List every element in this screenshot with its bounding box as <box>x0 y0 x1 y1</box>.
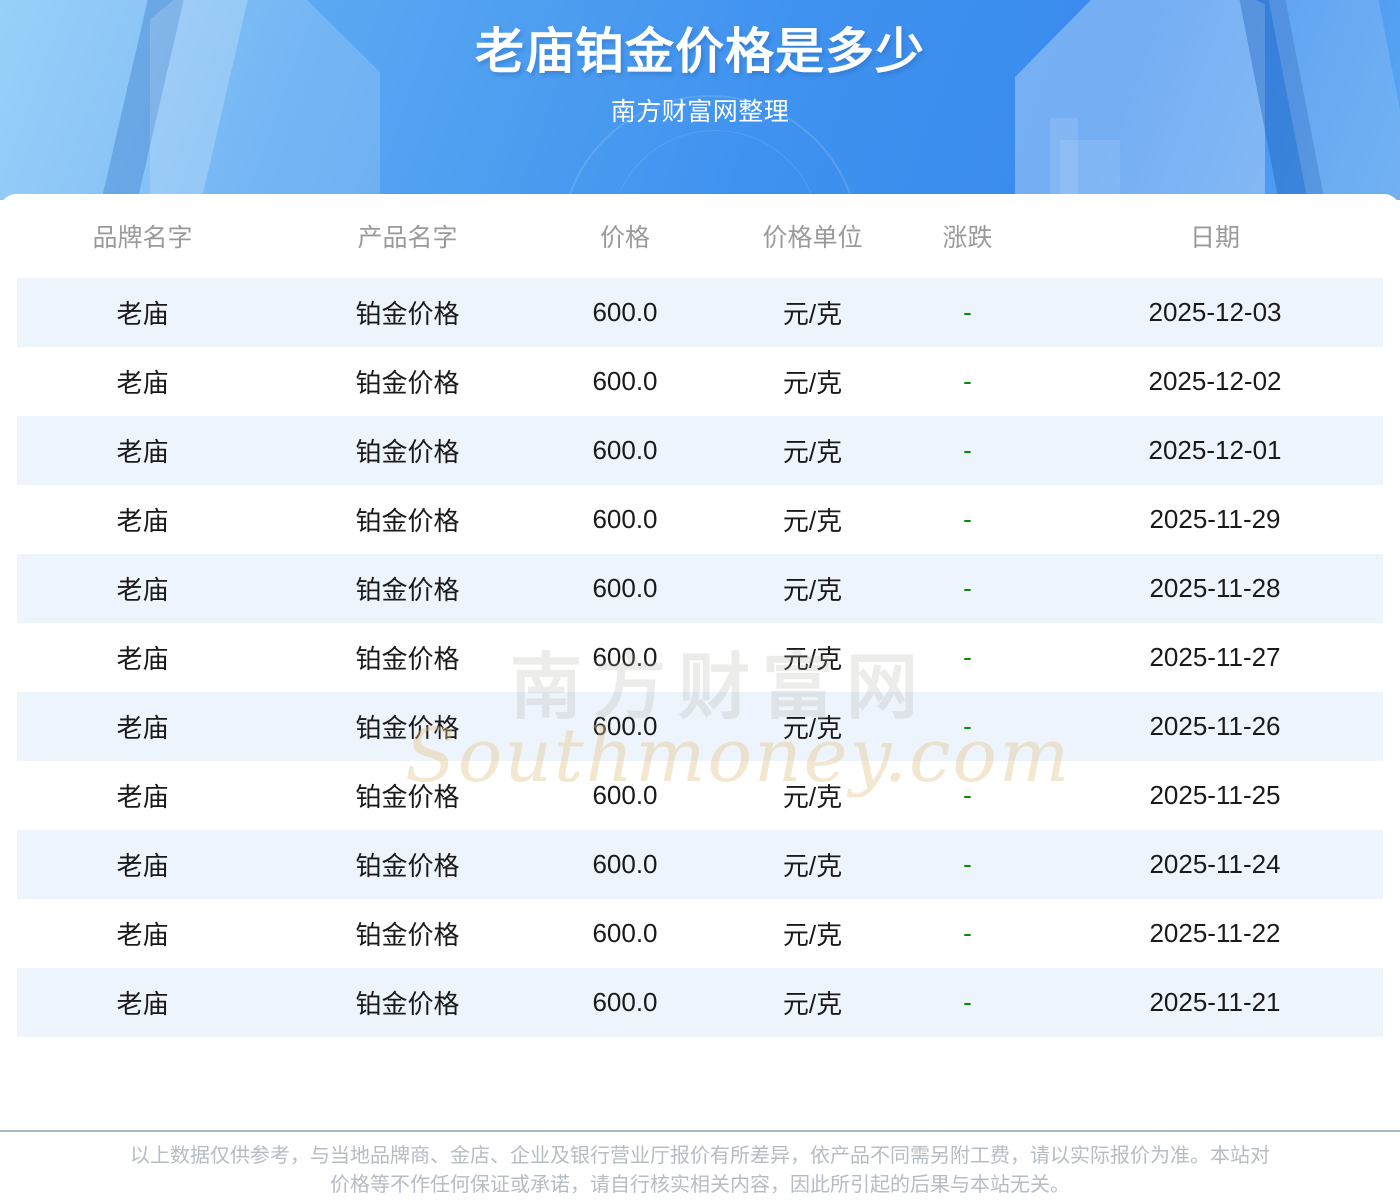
cell-brand: 老庙 <box>0 485 285 554</box>
cell-change: - <box>905 554 1030 623</box>
page-title: 老庙铂金价格是多少 <box>0 0 1400 83</box>
cell-unit: 元/克 <box>720 623 905 692</box>
change-indicator: - <box>963 504 972 534</box>
cell-price: 600.0 <box>530 416 720 485</box>
change-indicator: - <box>963 366 972 396</box>
table-body: 老庙铂金价格600.0元/克-2025-12-03老庙铂金价格600.0元/克-… <box>0 278 1400 1037</box>
cell-brand: 老庙 <box>0 278 285 347</box>
table-row: 老庙铂金价格600.0元/克-2025-11-29 <box>0 485 1400 554</box>
cell-brand: 老庙 <box>0 347 285 416</box>
table-header: 品牌名字 产品名字 价格 价格单位 涨跌 日期 <box>0 194 1400 278</box>
table-row: 老庙铂金价格600.0元/克-2025-12-02 <box>0 347 1400 416</box>
table-row: 老庙铂金价格600.0元/克-2025-11-28 <box>0 554 1400 623</box>
cell-date: 2025-11-24 <box>1030 830 1400 899</box>
footer-divider <box>0 1130 1400 1132</box>
cell-change: - <box>905 968 1030 1037</box>
cell-brand: 老庙 <box>0 554 285 623</box>
table-row: 老庙铂金价格600.0元/克-2025-11-21 <box>0 968 1400 1037</box>
change-indicator: - <box>963 435 972 465</box>
cell-product: 铂金价格 <box>285 416 530 485</box>
footer-disclaimer: 以上数据仅供参考，与当地品牌商、金店、企业及银行营业厅报价有所差异，依产品不同需… <box>0 1136 1400 1200</box>
cell-unit: 元/克 <box>720 761 905 830</box>
cell-unit: 元/克 <box>720 830 905 899</box>
page-root: 老庙铂金价格是多少 南方财富网整理 品牌名字 产品名字 价格 价格单位 涨跌 <box>0 0 1400 1203</box>
change-indicator: - <box>963 711 972 741</box>
cell-unit: 元/克 <box>720 899 905 968</box>
page-banner: 老庙铂金价格是多少 南方财富网整理 <box>0 0 1400 200</box>
cell-unit: 元/克 <box>720 485 905 554</box>
cell-brand: 老庙 <box>0 692 285 761</box>
cell-brand: 老庙 <box>0 761 285 830</box>
cell-unit: 元/克 <box>720 968 905 1037</box>
cell-date: 2025-12-01 <box>1030 416 1400 485</box>
change-indicator: - <box>963 780 972 810</box>
column-header-price: 价格 <box>530 194 720 278</box>
change-indicator: - <box>963 573 972 603</box>
column-header-unit: 价格单位 <box>720 194 905 278</box>
cell-date: 2025-11-25 <box>1030 761 1400 830</box>
cell-price: 600.0 <box>530 554 720 623</box>
price-table-card: 品牌名字 产品名字 价格 价格单位 涨跌 日期 老庙铂金价格600.0元/克-2… <box>0 194 1400 1131</box>
cell-date: 2025-11-22 <box>1030 899 1400 968</box>
column-header-product: 产品名字 <box>285 194 530 278</box>
cell-product: 铂金价格 <box>285 554 530 623</box>
footer-disclaimer-line-1: 以上数据仅供参考，与当地品牌商、金店、企业及银行营业厅报价有所差异，依产品不同需… <box>40 1142 1360 1171</box>
cell-product: 铂金价格 <box>285 830 530 899</box>
cell-date: 2025-11-29 <box>1030 485 1400 554</box>
cell-change: - <box>905 485 1030 554</box>
cell-product: 铂金价格 <box>285 899 530 968</box>
column-header-date: 日期 <box>1030 194 1400 278</box>
cell-product: 铂金价格 <box>285 761 530 830</box>
cell-product: 铂金价格 <box>285 692 530 761</box>
column-header-brand: 品牌名字 <box>0 194 285 278</box>
decor-shape-arc-inner <box>610 130 820 200</box>
cell-unit: 元/克 <box>720 416 905 485</box>
cell-brand: 老庙 <box>0 968 285 1037</box>
decor-shape-building-1 <box>1050 118 1078 200</box>
cell-price: 600.0 <box>530 761 720 830</box>
cell-change: - <box>905 692 1030 761</box>
price-table: 品牌名字 产品名字 价格 价格单位 涨跌 日期 老庙铂金价格600.0元/克-2… <box>0 194 1400 1037</box>
cell-change: - <box>905 830 1030 899</box>
cell-product: 铂金价格 <box>285 968 530 1037</box>
change-indicator: - <box>963 849 972 879</box>
cell-price: 600.0 <box>530 692 720 761</box>
cell-date: 2025-11-26 <box>1030 692 1400 761</box>
table-row: 老庙铂金价格600.0元/克-2025-12-03 <box>0 278 1400 347</box>
page-subtitle: 南方财富网整理 <box>0 95 1400 129</box>
cell-unit: 元/克 <box>720 554 905 623</box>
cell-product: 铂金价格 <box>285 623 530 692</box>
column-header-change: 涨跌 <box>905 194 1030 278</box>
table-row: 老庙铂金价格600.0元/克-2025-12-01 <box>0 416 1400 485</box>
change-indicator: - <box>963 918 972 948</box>
decor-shape-building-2 <box>1060 140 1120 200</box>
footer-disclaimer-line-2: 价格等不作任何保证或承诺，请自行核实相关内容，因此所引起的后果与本站无关。 <box>40 1171 1360 1200</box>
cell-price: 600.0 <box>530 899 720 968</box>
table-row: 老庙铂金价格600.0元/克-2025-11-26 <box>0 692 1400 761</box>
cell-change: - <box>905 278 1030 347</box>
cell-price: 600.0 <box>530 968 720 1037</box>
change-indicator: - <box>963 642 972 672</box>
cell-price: 600.0 <box>530 278 720 347</box>
cell-brand: 老庙 <box>0 830 285 899</box>
cell-date: 2025-11-21 <box>1030 968 1400 1037</box>
change-indicator: - <box>963 987 972 1017</box>
cell-product: 铂金价格 <box>285 485 530 554</box>
cell-price: 600.0 <box>530 830 720 899</box>
cell-product: 铂金价格 <box>285 278 530 347</box>
cell-change: - <box>905 623 1030 692</box>
change-indicator: - <box>963 297 972 327</box>
cell-brand: 老庙 <box>0 899 285 968</box>
cell-product: 铂金价格 <box>285 347 530 416</box>
cell-price: 600.0 <box>530 347 720 416</box>
cell-change: - <box>905 347 1030 416</box>
cell-change: - <box>905 761 1030 830</box>
cell-unit: 元/克 <box>720 692 905 761</box>
cell-date: 2025-11-27 <box>1030 623 1400 692</box>
cell-price: 600.0 <box>530 485 720 554</box>
cell-date: 2025-12-02 <box>1030 347 1400 416</box>
cell-price: 600.0 <box>530 623 720 692</box>
table-row: 老庙铂金价格600.0元/克-2025-11-22 <box>0 899 1400 968</box>
table-row: 老庙铂金价格600.0元/克-2025-11-27 <box>0 623 1400 692</box>
cell-brand: 老庙 <box>0 416 285 485</box>
cell-unit: 元/克 <box>720 278 905 347</box>
table-row: 老庙铂金价格600.0元/克-2025-11-24 <box>0 830 1400 899</box>
cell-brand: 老庙 <box>0 623 285 692</box>
table-header-row: 品牌名字 产品名字 价格 价格单位 涨跌 日期 <box>0 194 1400 278</box>
cell-unit: 元/克 <box>720 347 905 416</box>
cell-date: 2025-11-28 <box>1030 554 1400 623</box>
cell-date: 2025-12-03 <box>1030 278 1400 347</box>
table-row: 老庙铂金价格600.0元/克-2025-11-25 <box>0 761 1400 830</box>
cell-change: - <box>905 899 1030 968</box>
cell-change: - <box>905 416 1030 485</box>
